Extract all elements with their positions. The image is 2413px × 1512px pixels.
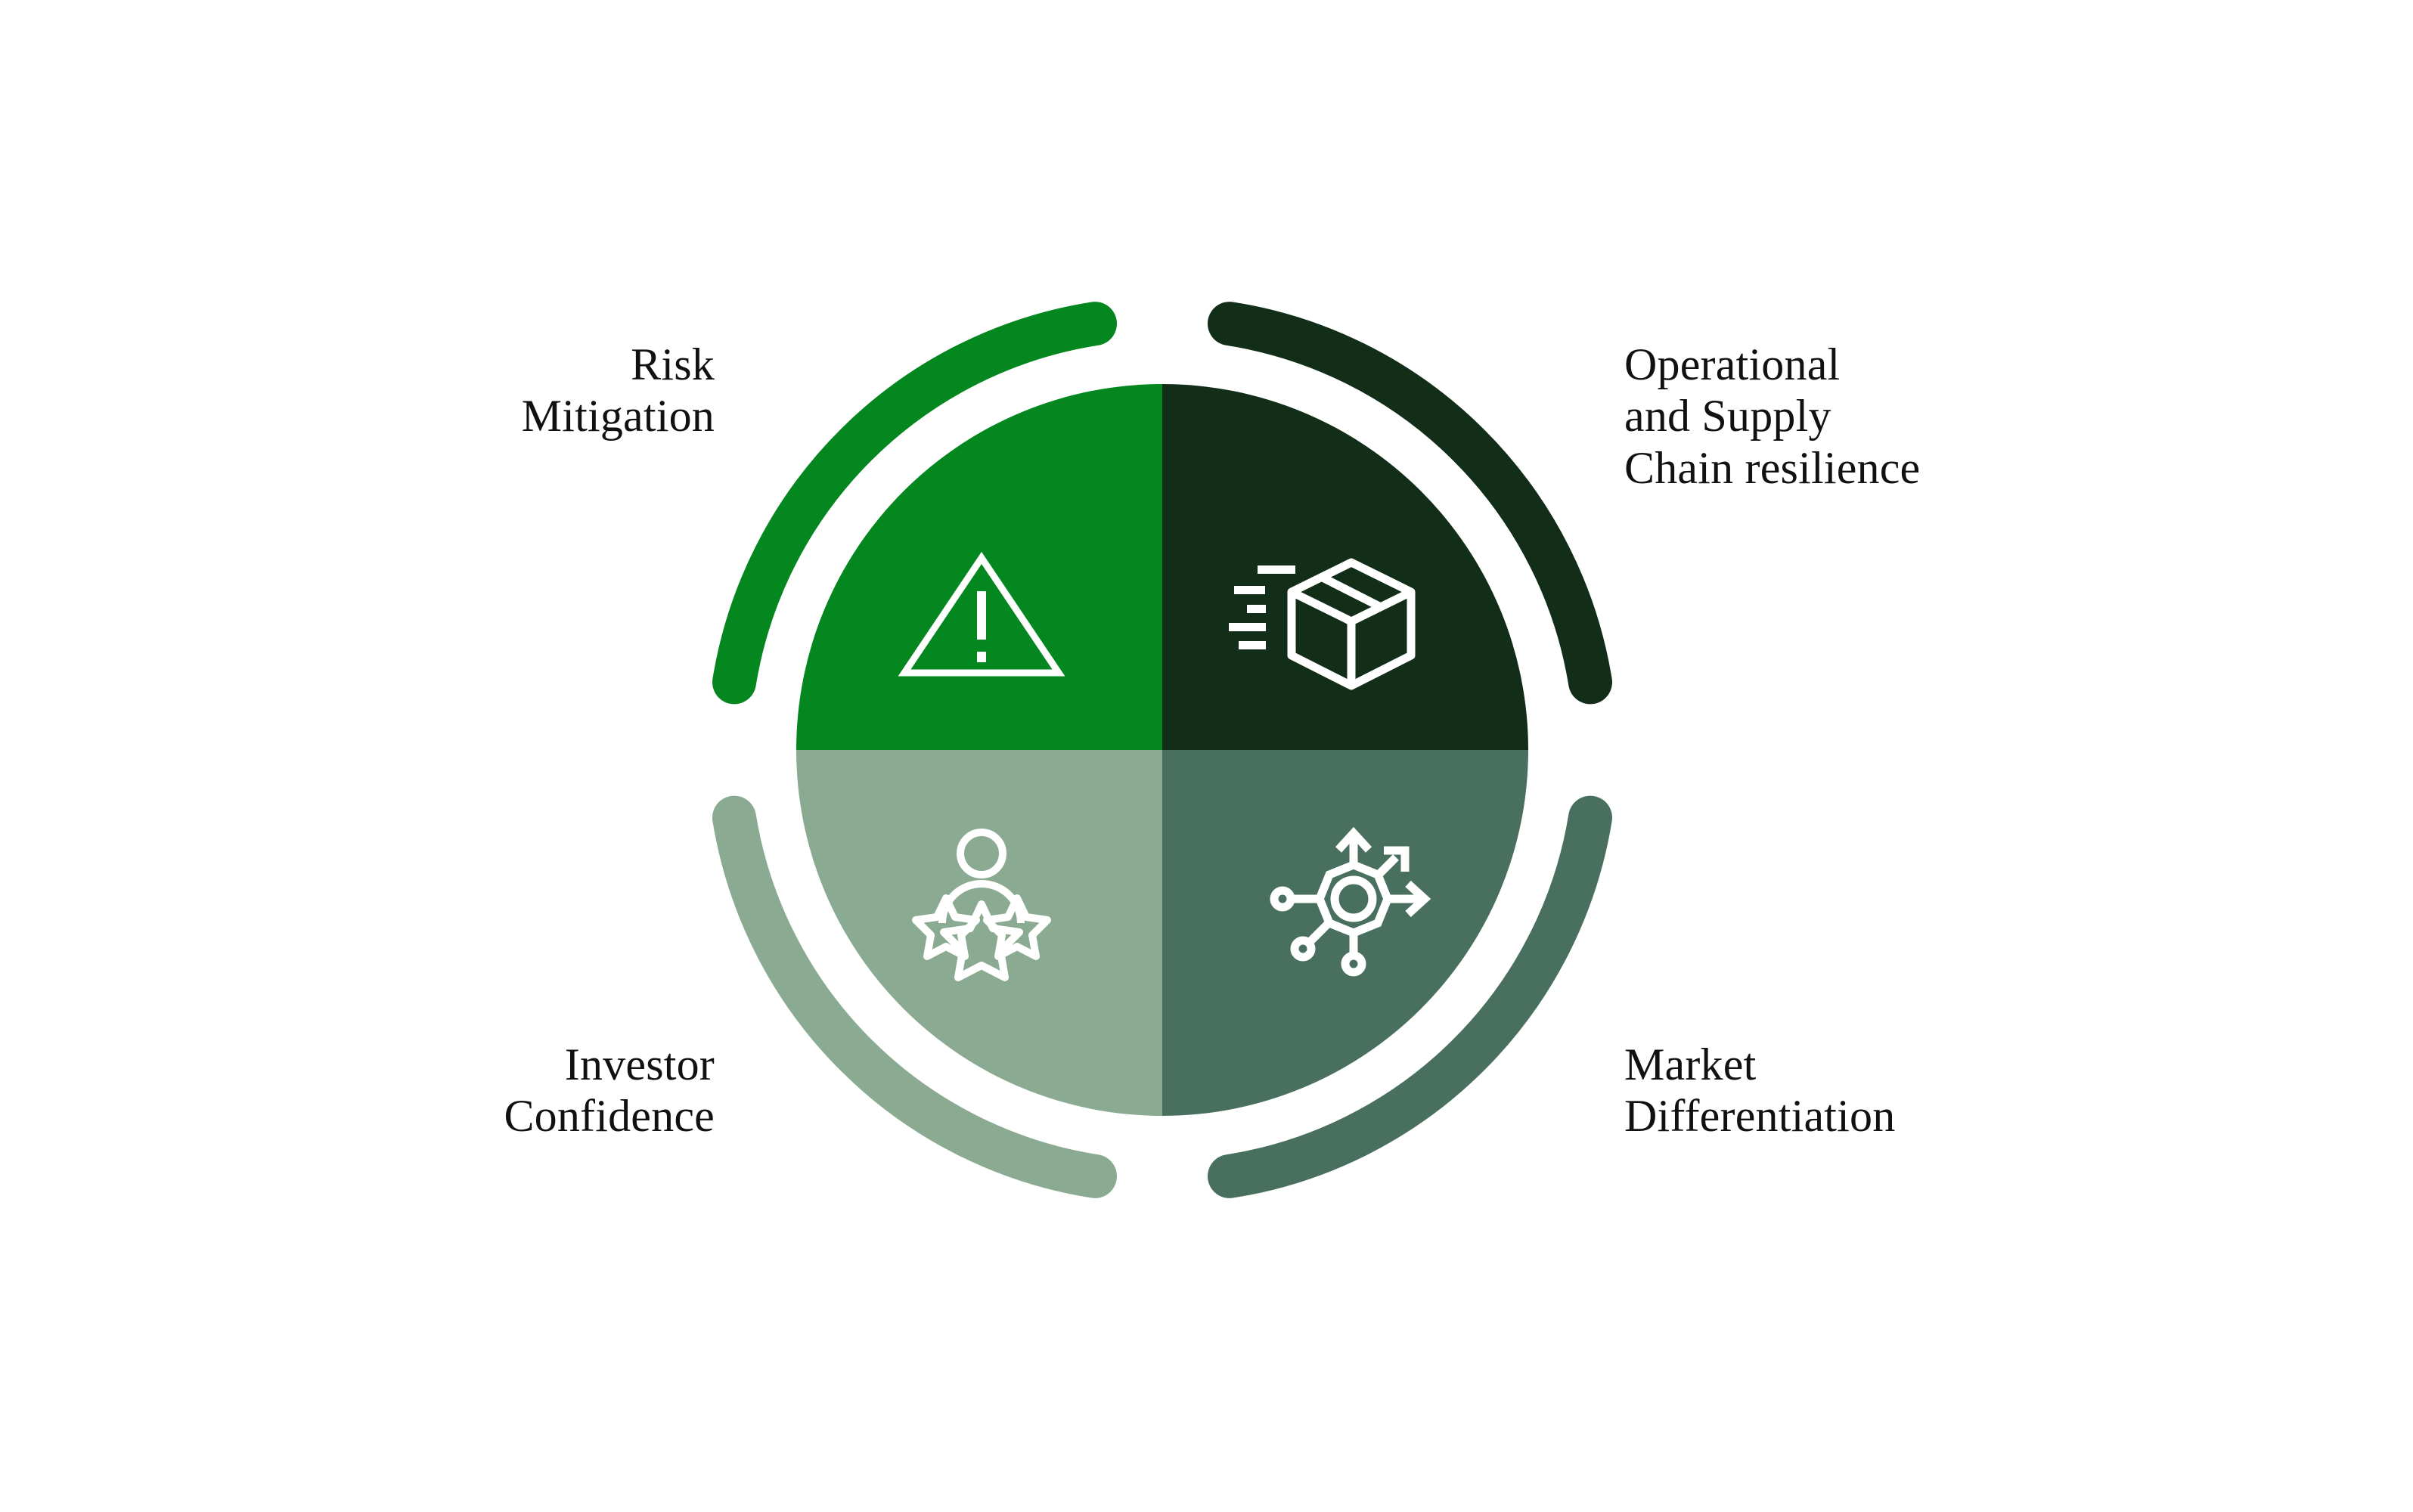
label-market-differentiation: Market Differentiation	[1624, 1039, 2244, 1142]
label-investor-confidence: Investor Confidence	[185, 1039, 715, 1142]
label-risk-mitigation: Risk Mitigation	[185, 339, 715, 442]
diagram-canvas: Risk Mitigation Operational and Supply C…	[0, 0, 2413, 1512]
four-quadrant-diagram	[0, 0, 2413, 1512]
quadrant-wheel	[796, 384, 1528, 1116]
label-operational-supply-chain: Operational and Supply Chain resilience	[1624, 339, 2244, 494]
